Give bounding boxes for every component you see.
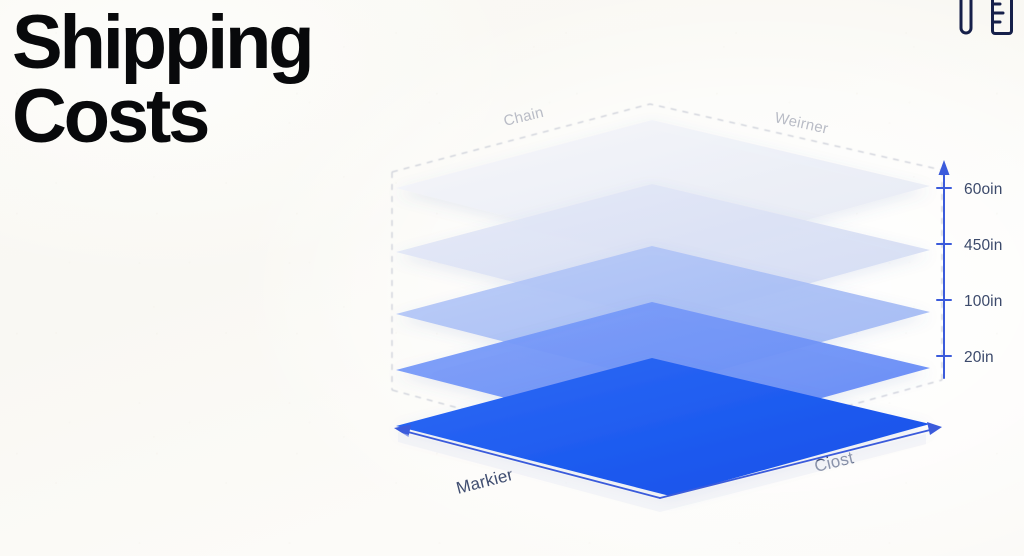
value-axis-tick-label-1: 60oin: [964, 181, 1002, 198]
value-axis-tick-label-2: 450in: [964, 237, 1002, 254]
value-axis-tick-label-3: 100in: [964, 293, 1002, 310]
test-tube-icon: [953, 0, 979, 42]
ruler-icon: [988, 0, 1016, 42]
page-title-line-2: Costs: [12, 80, 311, 154]
isometric-layer-chart: Chain Weirner 60oin: [330, 60, 1024, 556]
value-axis-tick-label-4: 20in: [964, 349, 994, 366]
page-title: Shipping Costs: [12, 6, 311, 153]
icon-cluster: [953, 0, 1016, 42]
page-title-line-1: Shipping: [12, 6, 311, 80]
depth-axis-label-chain-text: Chain: [502, 104, 546, 130]
depth-axis-label-chain: Chain: [502, 104, 546, 130]
value-axis: 60oin 450in 100in 20in: [937, 160, 1002, 378]
